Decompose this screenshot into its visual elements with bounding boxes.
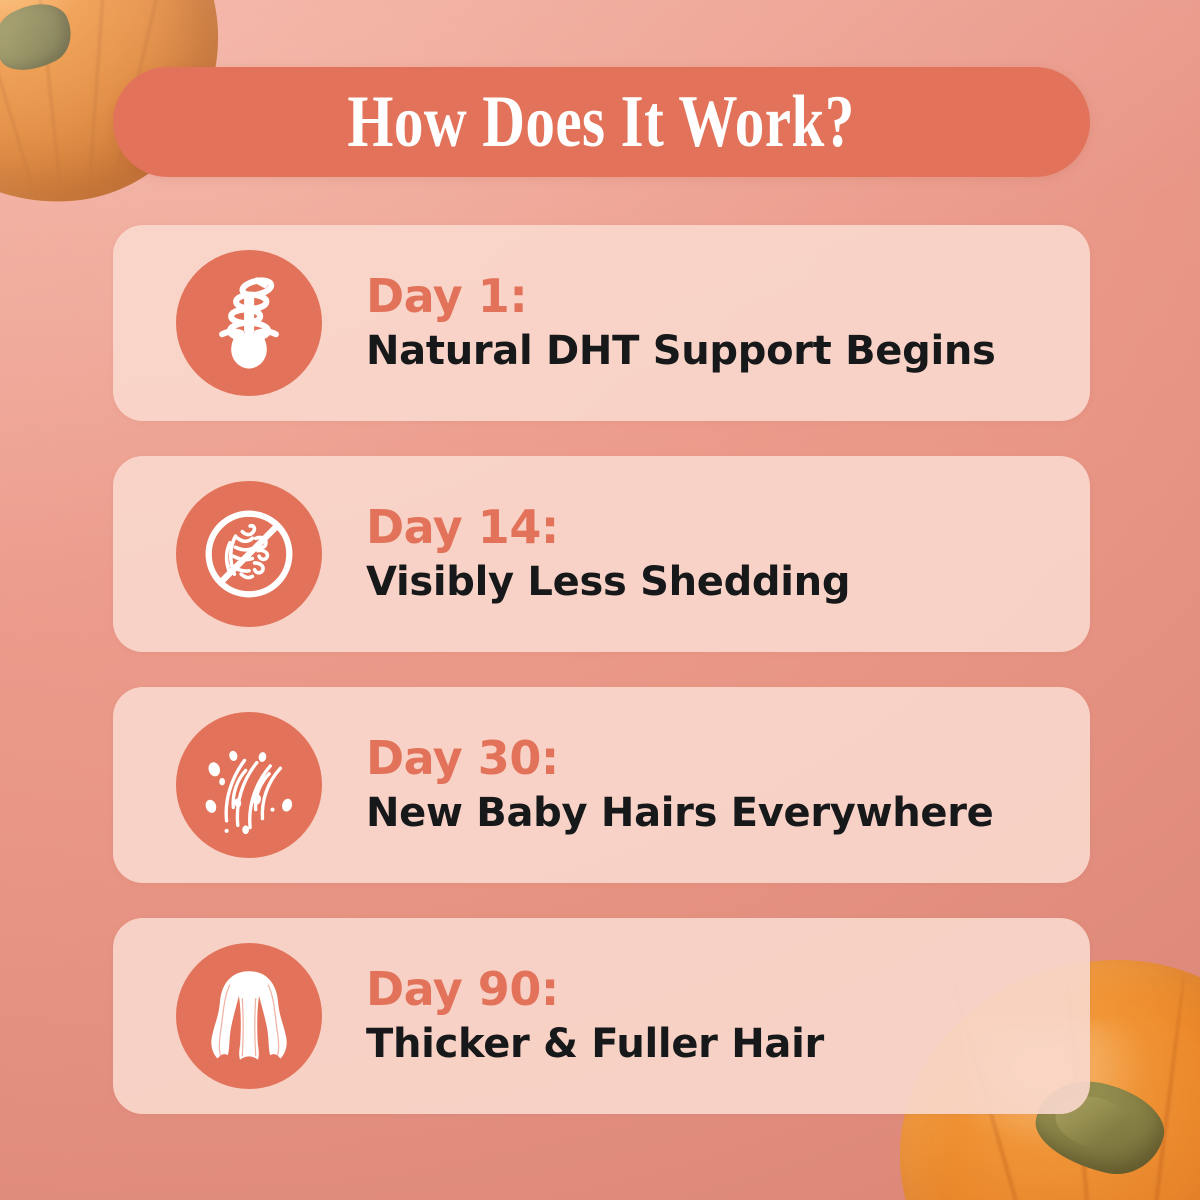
step-description: Thicker & Fuller Hair — [366, 1020, 824, 1068]
timeline-step-3-text: Day 30: New Baby Hairs Everywhere — [366, 733, 993, 837]
long-wavy-hair-icon — [176, 943, 322, 1089]
day-label: Day 30: — [366, 733, 993, 785]
timeline-step-2-text: Day 14: Visibly Less Shedding — [366, 502, 850, 606]
timeline-step-1: Day 1: Natural DHT Support Begins — [113, 225, 1090, 421]
timeline-step-1-text: Day 1: Natural DHT Support Begins — [366, 271, 996, 375]
timeline-list: Day 1: Natural DHT Support Begins — [113, 225, 1090, 1149]
timeline-step-2: Day 14: Visibly Less Shedding — [113, 456, 1090, 652]
timeline-step-4: Day 90: Thicker & Fuller Hair — [113, 918, 1090, 1114]
infographic-canvas: How Does It Work? Day — [0, 0, 1200, 1200]
page-title: How Does It Work? — [348, 85, 855, 159]
scalp-new-growth-icon — [176, 712, 322, 858]
timeline-step-3: Day 30: New Baby Hairs Everywhere — [113, 687, 1090, 883]
day-label: Day 90: — [366, 964, 824, 1016]
timeline-step-4-text: Day 90: Thicker & Fuller Hair — [366, 964, 824, 1068]
header-banner: How Does It Work? — [113, 67, 1090, 177]
day-label: Day 1: — [366, 271, 996, 323]
day-label: Day 14: — [366, 502, 850, 554]
step-description: New Baby Hairs Everywhere — [366, 789, 993, 837]
step-description: Natural DHT Support Begins — [366, 327, 996, 375]
no-hair-fall-icon — [176, 481, 322, 627]
step-description: Visibly Less Shedding — [366, 558, 850, 606]
hair-follicle-dht-icon — [176, 250, 322, 396]
